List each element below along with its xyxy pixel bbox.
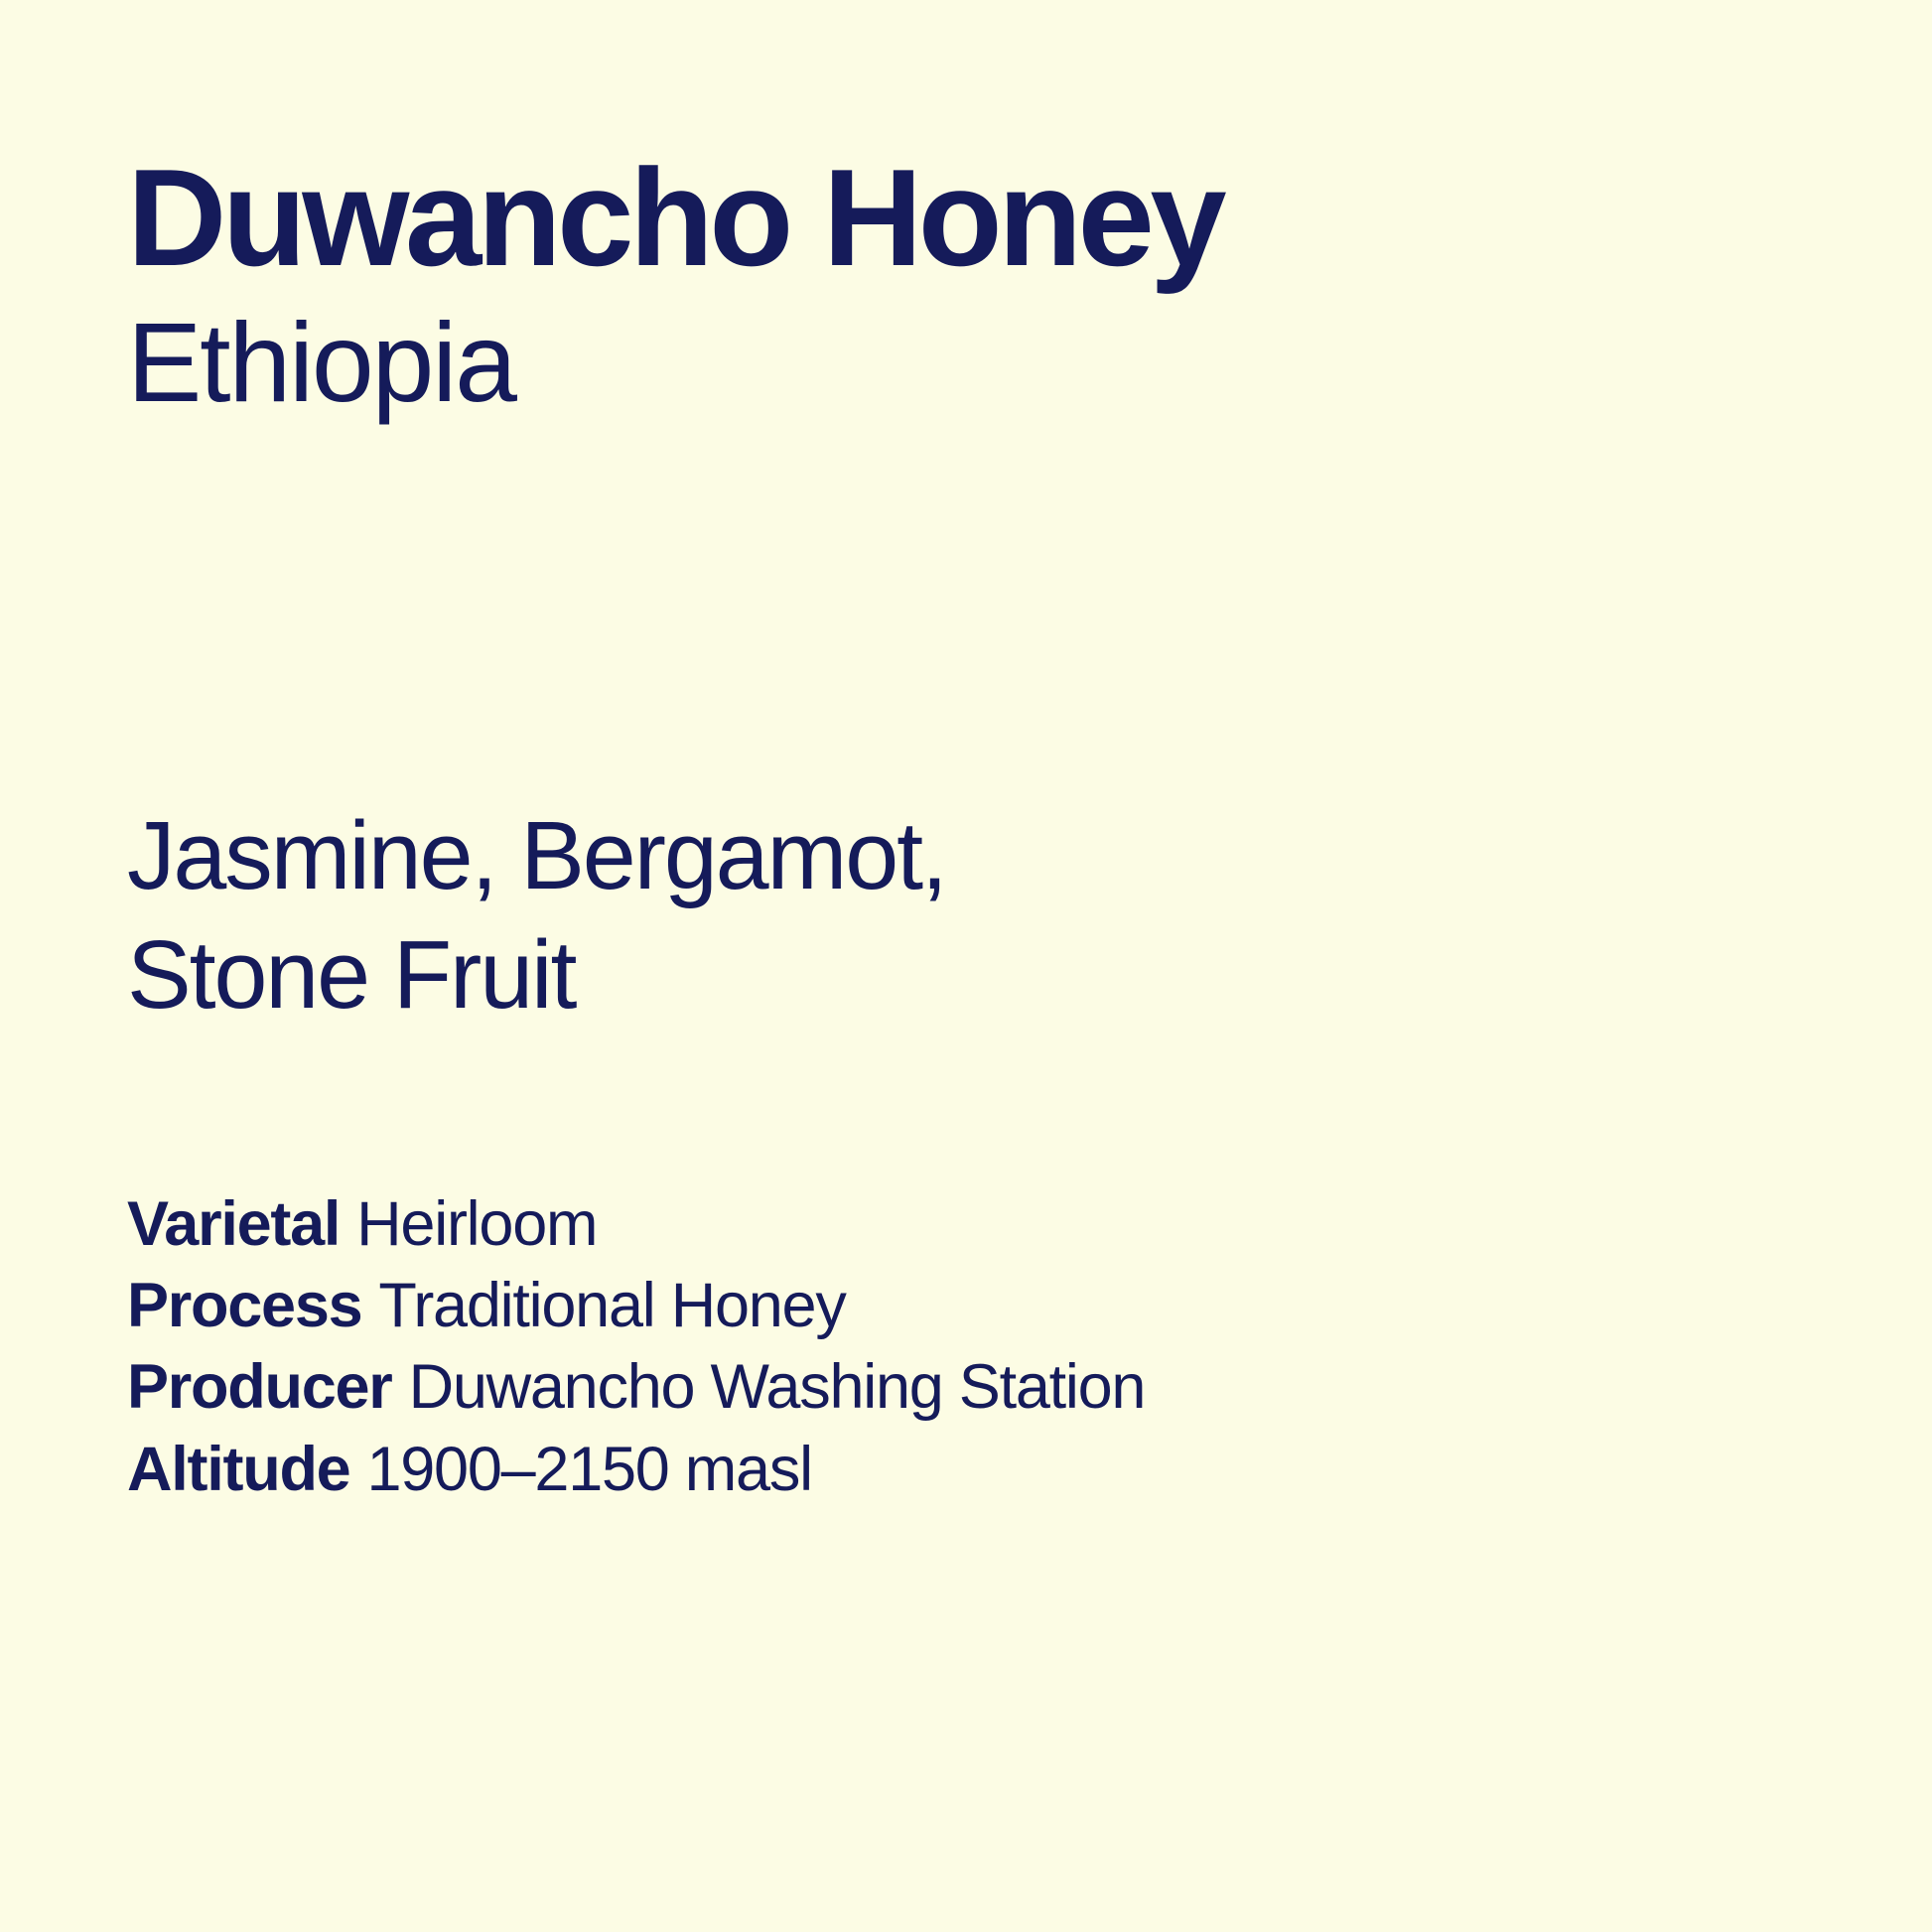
detail-list: VarietalHeirloom ProcessTraditional Hone… [127, 1183, 1815, 1510]
detail-label-altitude: Altitude [127, 1435, 349, 1504]
page-title: Duwancho Honey [127, 147, 1815, 289]
detail-value-process: Traditional Honey [378, 1271, 845, 1340]
masthead: Duwancho Honey Ethiopia [127, 147, 1815, 429]
detail-label-producer: Producer [127, 1352, 392, 1422]
detail-row-altitude: Altitude1900–2150 masl [127, 1429, 1815, 1510]
detail-value-altitude: 1900–2150 masl [366, 1435, 811, 1504]
detail-row-process: ProcessTraditional Honey [127, 1265, 1815, 1346]
detail-value-varietal: Heirloom [356, 1189, 597, 1259]
product-origin: Ethiopia [127, 297, 1815, 429]
detail-value-producer: Duwancho Washing Station [409, 1352, 1146, 1422]
tasting-notes: Jasmine, Bergamot, Stone Fruit [127, 796, 1517, 1035]
detail-label-varietal: Varietal [127, 1189, 340, 1259]
detail-row-varietal: VarietalHeirloom [127, 1183, 1815, 1265]
coffee-bag-label: Duwancho Honey Ethiopia Jasmine, Bergamo… [0, 0, 1932, 1932]
tasting-notes-line-1: Jasmine, Bergamot, [127, 796, 1517, 915]
detail-label-process: Process [127, 1271, 361, 1340]
tasting-notes-line-2: Stone Fruit [127, 915, 1517, 1035]
detail-row-producer: ProducerDuwancho Washing Station [127, 1346, 1815, 1428]
